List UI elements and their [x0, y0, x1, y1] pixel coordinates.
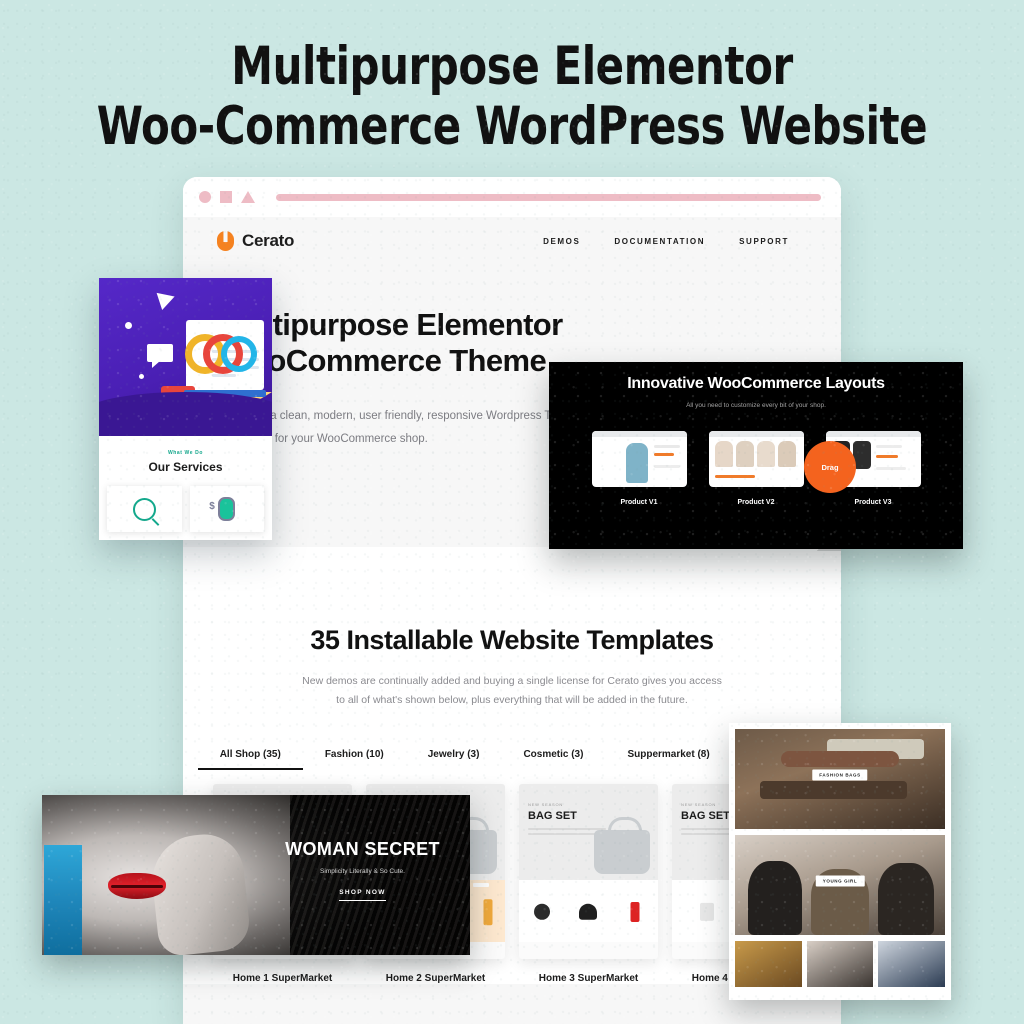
services-heading: Our Services — [109, 460, 262, 474]
site-logo[interactable]: Cerato — [217, 231, 294, 251]
filter-tab-suppermarket[interactable]: Suppermarket (8) — [605, 749, 731, 770]
fashion-photo-girls: YOUNG GIRL — [735, 835, 945, 935]
mock-toolbar — [826, 431, 921, 437]
filter-tab-jewelry[interactable]: Jewelry (3) — [406, 749, 502, 770]
nav-links: DEMOS DOCUMENTATION SUPPORT — [543, 237, 807, 246]
mock-toolbar — [592, 431, 687, 437]
logo-label: Cerato — [242, 231, 294, 251]
thumb-kicker: NEW SEASON — [681, 802, 716, 807]
layout-product-card[interactable]: Product V2 — [709, 431, 804, 506]
ring-icon — [221, 336, 257, 372]
woman-secret-banner[interactable]: WOMAN SECRET Simplicity Literally & So C… — [42, 795, 470, 955]
filter-tab-fashion[interactable]: Fashion (10) — [303, 749, 406, 770]
address-bar[interactable] — [276, 194, 821, 201]
detail-line — [715, 475, 755, 478]
service-item[interactable] — [190, 486, 265, 532]
template-thumbnail: NEW SEASON BAG SET — [519, 784, 658, 959]
square-icon[interactable] — [220, 191, 232, 203]
nav-item-documentation[interactable]: DOCUMENTATION — [614, 237, 705, 246]
product-tile — [612, 880, 658, 942]
product-label: Product V1 — [592, 499, 687, 506]
detail-line — [876, 455, 898, 458]
detail-line — [876, 445, 902, 448]
services-header: What We Do Our Services — [99, 436, 272, 474]
filter-tab-all-shop[interactable]: All Shop (35) — [198, 749, 303, 770]
product-label: Product V2 — [709, 499, 804, 506]
blue-accent-panel — [44, 845, 82, 955]
thumb-banner: NEW SEASON BAG SET — [519, 784, 658, 880]
nav-item-support[interactable]: SUPPORT — [739, 237, 789, 246]
product-screenshot — [709, 431, 804, 487]
model-figure — [626, 443, 648, 483]
template-card[interactable]: NEW SEASON BAG SET Home 3 SuperMarket — [519, 784, 658, 984]
illustration-wave — [99, 392, 272, 436]
templates-heading: 35 Installable Website Templates — [183, 625, 841, 656]
poster-title-line-2: Woo-Commerce WordPress Website — [61, 100, 962, 154]
shop-now-button[interactable]: SHOP NOW — [339, 889, 385, 901]
site-navbar: Cerato DEMOS DOCUMENTATION SUPPORT — [183, 217, 841, 265]
cerato-flame-icon — [217, 231, 234, 251]
service-item[interactable] — [107, 486, 182, 532]
fashion-photo-row — [735, 941, 945, 987]
drag-handle[interactable]: Drag — [804, 441, 856, 493]
fashion-preview-card[interactable]: FASHION BAGS YOUNG GIRL — [729, 723, 951, 1000]
poster-title: Multipurpose Elementor Woo-Commerce Word… — [0, 40, 1024, 154]
folded-clothes — [781, 751, 899, 767]
thumb-kicker: NEW SEASON — [528, 802, 563, 807]
browser-chrome — [183, 177, 841, 217]
search-icon — [133, 498, 156, 521]
detail-line — [654, 453, 674, 456]
model-figure — [736, 441, 754, 467]
product-screenshot — [592, 431, 687, 487]
nav-item-demos[interactable]: DEMOS — [543, 237, 580, 246]
services-kicker: What We Do — [109, 450, 262, 456]
fashion-photo-clothes: FASHION BAGS — [735, 729, 945, 829]
banner-subtitle: Simplicity Literally & So Cute. — [280, 868, 445, 875]
detail-line — [654, 445, 680, 448]
filter-tab-cosmetic[interactable]: Cosmetic (3) — [501, 749, 605, 770]
product-tile — [565, 880, 611, 942]
category-tag: YOUNG GIRL — [816, 876, 865, 887]
layouts-heading: Innovative WooCommerce Layouts — [549, 374, 963, 394]
bag-icon — [594, 830, 650, 874]
product-tile — [470, 880, 505, 942]
detail-line — [654, 465, 680, 468]
template-name: Home 1 SuperMarket — [213, 973, 352, 984]
triangle-icon[interactable] — [241, 191, 255, 203]
mouse-dollar-icon — [218, 497, 235, 521]
poster-title-line-1: Multipurpose Elementor — [61, 40, 962, 94]
services-preview-card[interactable]: What We Do Our Services — [99, 278, 272, 540]
fashion-thumb — [878, 941, 945, 987]
model-figure — [757, 441, 775, 467]
banner-copy: WOMAN SECRET Simplicity Literally & So C… — [280, 839, 445, 901]
template-name: Home 2 SuperMarket — [366, 973, 505, 984]
mock-toolbar — [709, 431, 804, 437]
decorative-dot — [125, 322, 132, 329]
girl-figure — [878, 863, 935, 935]
template-name: Home 3 SuperMarket — [519, 973, 658, 984]
thumb-products — [519, 880, 658, 942]
woocommerce-layouts-panel: Innovative WooCommerce Layouts All you n… — [549, 362, 963, 549]
layouts-product-row: Product V1 Product V2 Product — [549, 431, 963, 506]
layout-product-card[interactable]: Product V1 — [592, 431, 687, 506]
circle-icon[interactable] — [199, 191, 211, 203]
thumb-title: BAG SET — [528, 810, 577, 822]
paper-plane-icon — [157, 288, 178, 310]
product-label: Product V3 — [826, 499, 921, 506]
model-figure — [715, 441, 733, 467]
banner-heading: WOMAN SECRET — [280, 839, 445, 860]
category-tag: FASHION BAGS — [812, 770, 867, 781]
templates-subtitle: New demos are continually added and buyi… — [297, 672, 727, 711]
girl-figure — [748, 861, 803, 935]
lips-figure — [108, 873, 166, 899]
section-divider — [183, 547, 841, 569]
detail-line — [876, 467, 906, 470]
thumb-title: BAG SET — [681, 810, 730, 822]
folded-clothes — [760, 781, 907, 799]
model-figure — [778, 441, 796, 467]
fashion-thumb — [807, 941, 874, 987]
chat-bubble-icon — [147, 344, 173, 362]
layouts-subtitle: All you need to customize every bit of y… — [549, 402, 963, 409]
services-illustration — [99, 278, 272, 436]
fashion-thumb — [735, 941, 802, 987]
decorative-dot — [139, 374, 144, 379]
product-tile — [519, 880, 565, 942]
services-icon-row — [99, 474, 272, 532]
